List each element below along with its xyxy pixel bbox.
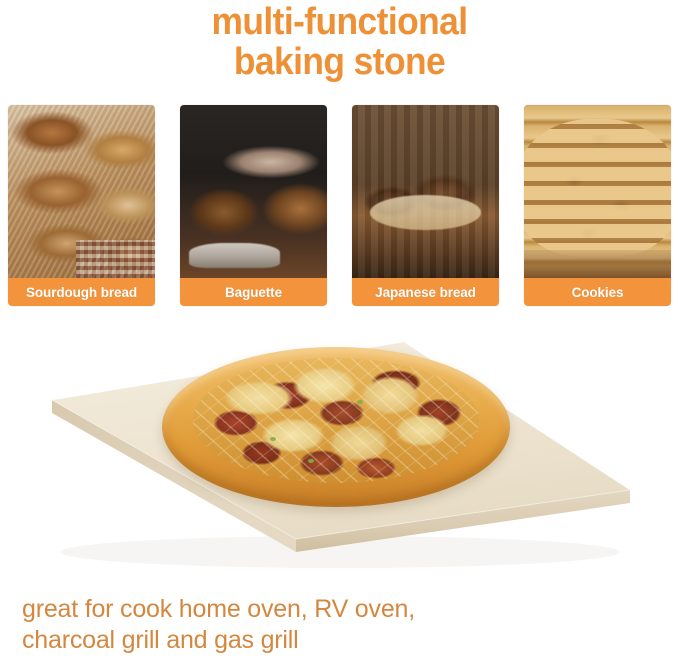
card-label-sourdough-bread: Sourdough bread (8, 278, 155, 306)
card-label-japanese-bread: Japanese bread (352, 278, 499, 306)
title-line-2: baking stone (24, 42, 655, 82)
japanese-bread-photo (352, 105, 499, 278)
pizza (162, 347, 510, 507)
footer-tagline: great for cook home oven, RV oven, charc… (22, 594, 662, 656)
card-label-cookies: Cookies (524, 278, 671, 306)
hero-product-image (0, 320, 679, 595)
pizza-herb-garnish (357, 400, 363, 404)
feature-card-japanese-bread: Japanese bread (352, 105, 499, 306)
feature-card-cookies: Cookies (524, 105, 671, 306)
page-title: multi-functional baking stone (0, 2, 679, 82)
title-line-1: multi-functional (24, 2, 655, 42)
pizza-toppings (193, 358, 478, 483)
footer-line-1: great for cook home oven, RV oven, (22, 594, 662, 625)
feature-card-row: Sourdough bread Baguette Japanese bread … (8, 105, 671, 306)
sourdough-bread-photo (8, 105, 155, 278)
baguette-photo (180, 105, 327, 278)
pizza-herb-garnish (270, 437, 276, 441)
feature-card-sourdough-bread: Sourdough bread (8, 105, 155, 306)
footer-line-2: charcoal grill and gas grill (22, 625, 662, 656)
cookies-photo (524, 105, 671, 278)
feature-card-baguette: Baguette (180, 105, 327, 306)
card-label-baguette: Baguette (180, 278, 327, 306)
